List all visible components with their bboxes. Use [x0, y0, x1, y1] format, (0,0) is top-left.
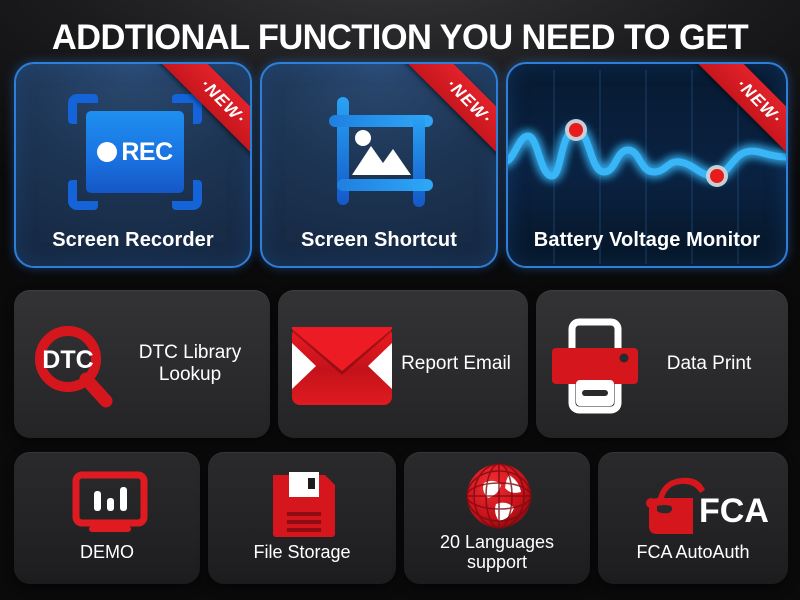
fca-icon-label: FCA	[699, 492, 769, 530]
card-label-screen-shortcut: Screen Shortcut	[262, 229, 496, 252]
envelope-icon	[292, 327, 388, 401]
card-label-battery-voltage-monitor: Battery Voltage Monitor	[508, 229, 786, 252]
voltage-marker-dip	[706, 165, 728, 187]
page-title: ADDTIONAL FUNCTION YOU NEED TO GET	[6, 18, 794, 58]
card-label-line2: Lookup	[124, 364, 256, 386]
card-dtc-library-lookup[interactable]: DTC DTC Library Lookup	[14, 290, 270, 438]
voltage-marker-peak	[565, 119, 587, 141]
card-label-line2: support	[440, 552, 554, 572]
card-label-report-email: Report Email	[398, 353, 514, 375]
crop-image-icon	[262, 82, 498, 222]
card-demo[interactable]: DEMO	[14, 452, 200, 584]
card-screen-recorder[interactable]: REC Screen Recorder ·NEW·	[14, 62, 252, 268]
floppy-disk-icon	[270, 472, 334, 536]
card-file-storage[interactable]: File Storage	[208, 452, 396, 584]
car-icon: FCA	[641, 472, 745, 536]
card-label-dtc-library-lookup: DTC Library Lookup	[124, 342, 256, 387]
monitor-barchart-icon	[71, 472, 143, 536]
card-label-demo: DEMO	[80, 542, 134, 562]
card-languages-support[interactable]: 20 Languages support	[404, 452, 590, 584]
screen-record-icon: REC	[16, 82, 252, 222]
dtc-magnifier-icon: DTC	[28, 321, 114, 407]
printer-icon	[550, 318, 634, 410]
card-battery-voltage-monitor[interactable]: Battery Voltage Monitor ·NEW·	[506, 62, 788, 268]
app-root: ADDTIONAL FUNCTION YOU NEED TO GET REC S…	[0, 0, 800, 600]
card-report-email[interactable]: Report Email	[278, 290, 528, 438]
globe-icon	[464, 462, 530, 526]
card-label-fca-autoauth: FCA AutoAuth	[636, 542, 749, 562]
card-fca-autoauth[interactable]: FCA FCA AutoAuth	[598, 452, 788, 584]
card-label-line1: 20 Languages	[440, 532, 554, 552]
card-label-screen-recorder: Screen Recorder	[16, 229, 250, 252]
card-label-languages-support: 20 Languages support	[440, 532, 554, 572]
rec-screen: REC	[86, 111, 184, 193]
card-screen-shortcut[interactable]: Screen Shortcut ·NEW·	[260, 62, 498, 268]
card-data-print[interactable]: Data Print	[536, 290, 788, 438]
voltage-line	[506, 130, 788, 176]
card-label-line1: DTC Library	[124, 342, 256, 364]
dtc-icon-label: DTC	[42, 346, 93, 374]
card-label-file-storage: File Storage	[253, 542, 350, 562]
card-label-data-print: Data Print	[644, 353, 774, 375]
record-dot-icon	[97, 142, 117, 162]
rec-label: REC	[121, 138, 172, 167]
